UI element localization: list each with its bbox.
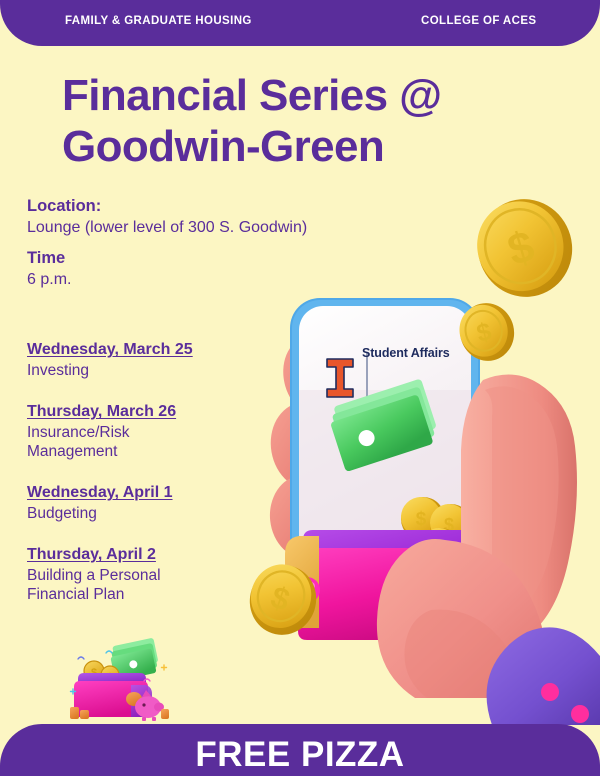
session-topic: Investing [27,360,242,380]
session-item: Thursday, March 26 Insurance/RiskManagem… [27,402,242,461]
session-topic: Insurance/RiskManagement [27,422,242,461]
wallet-piggybank-illustration: $ $ [58,633,183,725]
session-date: Wednesday, March 25 [27,340,242,360]
sleeve-dot [541,683,559,701]
session-schedule: Wednesday, March 25 Investing Thursday, … [27,340,242,604]
poster-canvas: $ $ $ [0,0,600,776]
poster-title-line2: Goodwin-Green [62,121,582,172]
session-date: Wednesday, April 1 [27,483,242,503]
location-label: Location: [27,196,377,217]
event-details: Location: Lounge (lower level of 300 S. … [27,196,377,291]
session-topic: Budgeting [27,503,242,523]
details-spacer [27,239,377,248]
session-item: Wednesday, March 25 Investing [27,340,242,380]
session-item: Wednesday, April 1 Budgeting [27,483,242,523]
phone-screen-brand-text: Student Affairs [362,346,450,360]
location-value: Lounge (lower level of 300 S. Goodwin) [27,217,377,239]
session-date: Thursday, March 26 [27,402,242,422]
bottom-banner: FREE PIZZA [0,724,600,776]
time-label: Time [27,248,377,269]
free-pizza-label: FREE PIZZA [0,735,600,775]
top-banner-right-label: COLLEGE OF ACES [421,15,536,27]
svg-text:$: $ [416,509,427,530]
poster-title: Financial Series @ Goodwin-Green [62,70,582,172]
top-banner: FAMILY & GRADUATE HOUSING COLLEGE OF ACE… [0,0,600,46]
session-item: Thursday, April 2 Building a PersonalFin… [27,545,242,604]
poster-title-line1: Financial Series @ [62,71,441,120]
time-value: 6 p.m. [27,269,377,291]
session-date: Thursday, April 2 [27,545,242,565]
floating-coin-large: $ [466,188,583,308]
top-banner-left-label: FAMILY & GRADUATE HOUSING [65,15,252,27]
session-topic: Building a PersonalFinancial Plan [27,565,242,604]
sleeve-dot [571,705,589,723]
